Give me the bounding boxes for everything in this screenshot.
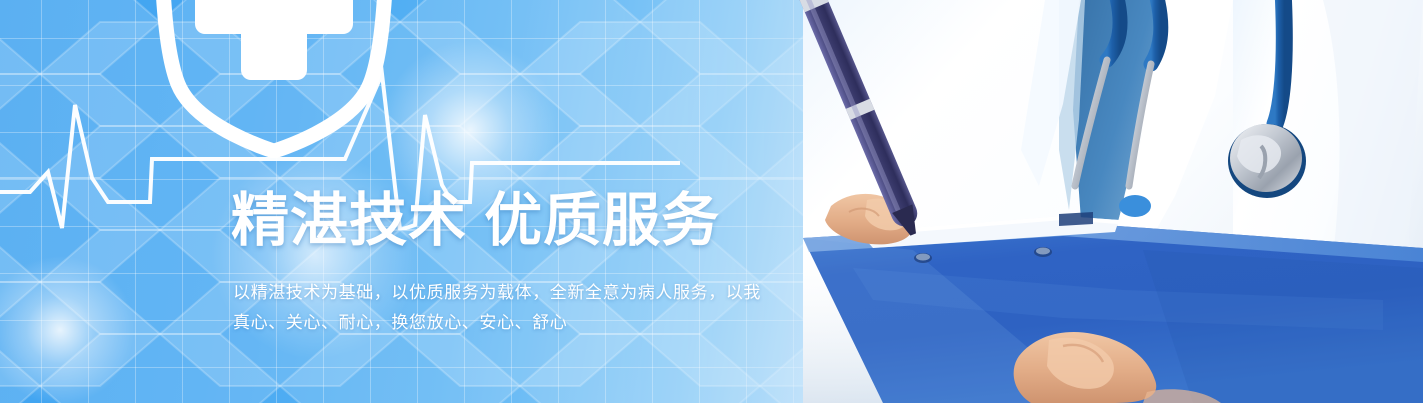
shield-icon [148,0,400,158]
medical-cross-icon [195,0,353,80]
subtitle: 以精湛技术为基础，以优质服务为载体，全新全意为病人服务，以我 真心、关心、耐心，… [233,278,761,338]
subtitle-line-2: 真心、关心、耐心，换您放心、安心、舒心 [233,308,761,338]
doctor-with-clipboard-photo [763,0,1423,403]
subtitle-line-1: 以精湛技术为基础，以优质服务为载体，全新全意为病人服务，以我 [233,278,761,308]
medical-hero-banner: 精湛技术 优质服务 以精湛技术为基础，以优质服务为载体，全新全意为病人服务，以我… [0,0,1423,403]
page-title: 精湛技术 优质服务 [231,192,720,250]
